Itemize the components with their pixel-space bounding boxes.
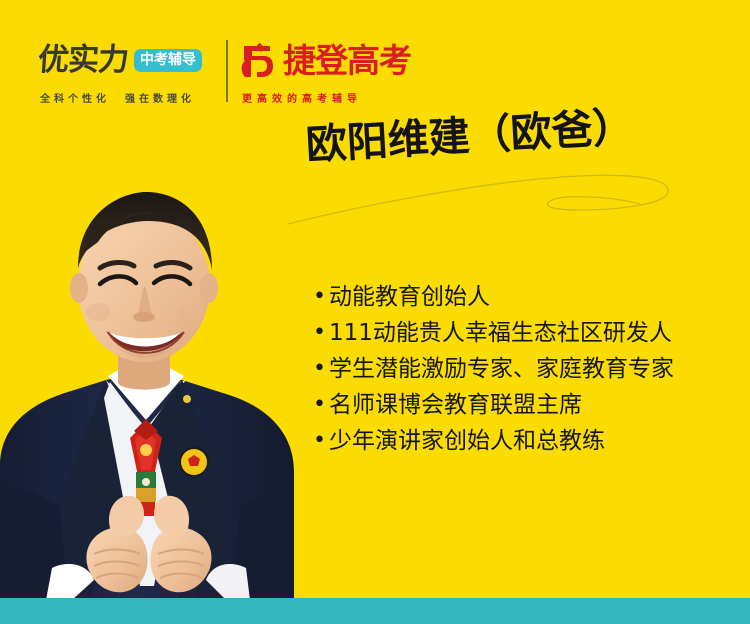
list-item: • 111动能贵人幸福生态社区研发人 <box>313 319 733 347</box>
brand-right-row: 捷登高考 <box>240 34 415 86</box>
credential-text: 名师课博会教育联盟主席 <box>329 391 582 419</box>
logo-bar: 优实力 中考辅导 全科个性化 强在数理化 捷登高考 更高效的高考辅导 <box>0 34 750 114</box>
bullet-icon: • <box>313 391 329 419</box>
credential-text: 少年演讲家创始人和总教练 <box>329 427 605 455</box>
person-portrait <box>0 176 324 600</box>
brand-right-name: 捷登高考 <box>283 44 411 77</box>
credentials-list: • 动能教育创始人 • 111动能贵人幸福生态社区研发人 • 学生潜能激励专家、… <box>313 283 733 463</box>
brand-right-tagline: 更高效的高考辅导 <box>240 90 415 105</box>
list-item: • 名师课博会教育联盟主席 <box>313 391 733 419</box>
bullet-icon: • <box>313 427 329 455</box>
list-item: • 少年演讲家创始人和总教练 <box>313 427 733 455</box>
bullet-icon: • <box>313 355 329 383</box>
poster-canvas: 优实力 中考辅导 全科个性化 强在数理化 捷登高考 更高效的高考辅导 欧阳维建（ <box>0 0 750 624</box>
brand-left-tagline: 全科个性化 强在数理化 <box>38 90 218 105</box>
brand-left-badge: 中考辅导 <box>134 49 202 72</box>
credential-text: 学生潜能激励专家、家庭教育专家 <box>329 355 674 383</box>
bottom-accent-bar <box>0 598 750 624</box>
brand-left-logo[interactable]: 优实力 中考辅导 全科个性化 强在数理化 <box>38 34 218 114</box>
logo-divider <box>226 40 228 102</box>
brand-left-row: 优实力 中考辅导 <box>38 34 218 86</box>
credential-text: 动能教育创始人 <box>329 283 490 311</box>
swoosh-decoration-icon <box>280 162 710 242</box>
bullet-icon: • <box>313 283 329 311</box>
list-item: • 动能教育创始人 <box>313 283 733 311</box>
list-item: • 学生潜能激励专家、家庭教育专家 <box>313 355 733 383</box>
bullet-icon: • <box>313 319 329 347</box>
brand-left-name: 优实力 <box>37 45 129 76</box>
brand-right-logo[interactable]: 捷登高考 更高效的高考辅导 <box>240 34 415 114</box>
credential-text: 111动能贵人幸福生态社区研发人 <box>329 319 672 347</box>
jiedeng-logo-mark-icon <box>240 41 276 79</box>
